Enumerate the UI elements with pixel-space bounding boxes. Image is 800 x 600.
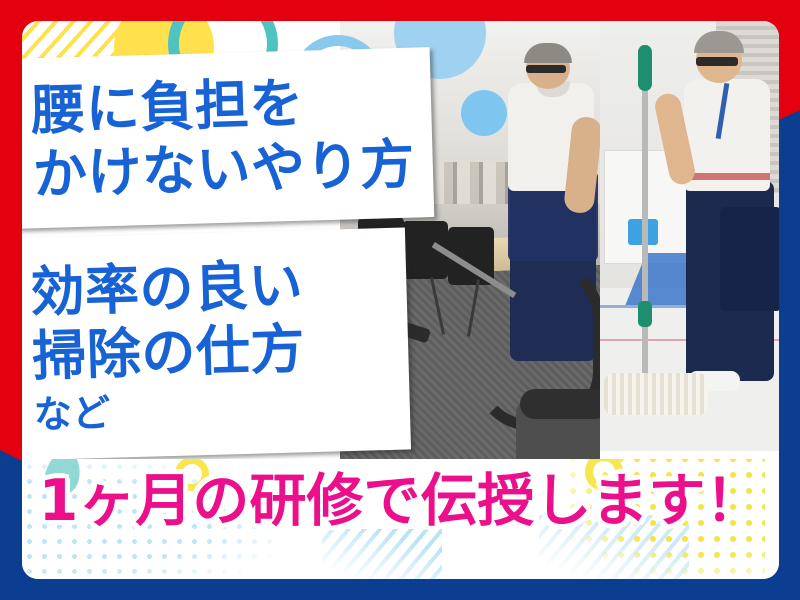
photo-mop-grip [638,45,652,91]
photo-mop-head [604,373,708,415]
headline-card-1-line-1: 腰に負担を [30,77,304,139]
bottom-band-headline: 1ヶ月の研修で伝授します！ [22,473,779,530]
photo-vacuum-lid [520,389,600,419]
bottom-band: 1ヶ月の研修で伝授します！ [22,459,779,579]
headline-card-2-line-3: など [33,394,111,434]
poster-canvas: 腰に負担を かけないやり方 効率の良い 掃除の仕方 など 1ヶ月の研修で伝授しま… [22,21,779,579]
headline-card-2: 効率の良い 掃除の仕方 など [22,227,411,460]
photo-worker-glasses [526,65,566,73]
photo-shirt-stripe [684,173,770,180]
photo-worker-mopping [600,21,779,451]
decor-circle-blue-icon [461,90,507,136]
headline-card-2-line-2: 掃除の仕方 [32,322,306,384]
poster-root: 腰に負担を かけないやり方 効率の良い 掃除の仕方 など 1ヶ月の研修で伝授しま… [0,0,800,600]
headline-card-2-line-1: 効率の良い [30,258,304,320]
headline-card-1: 腰に負担を かけないやり方 [22,47,434,229]
headline-card-1-line-2: かけないやり方 [32,138,415,203]
photo-mop-grip-lower [638,301,652,327]
photo-worker-apron [720,207,779,311]
decor-stripes-blue-2-icon [322,529,442,579]
photo-worker-glasses [696,57,738,66]
